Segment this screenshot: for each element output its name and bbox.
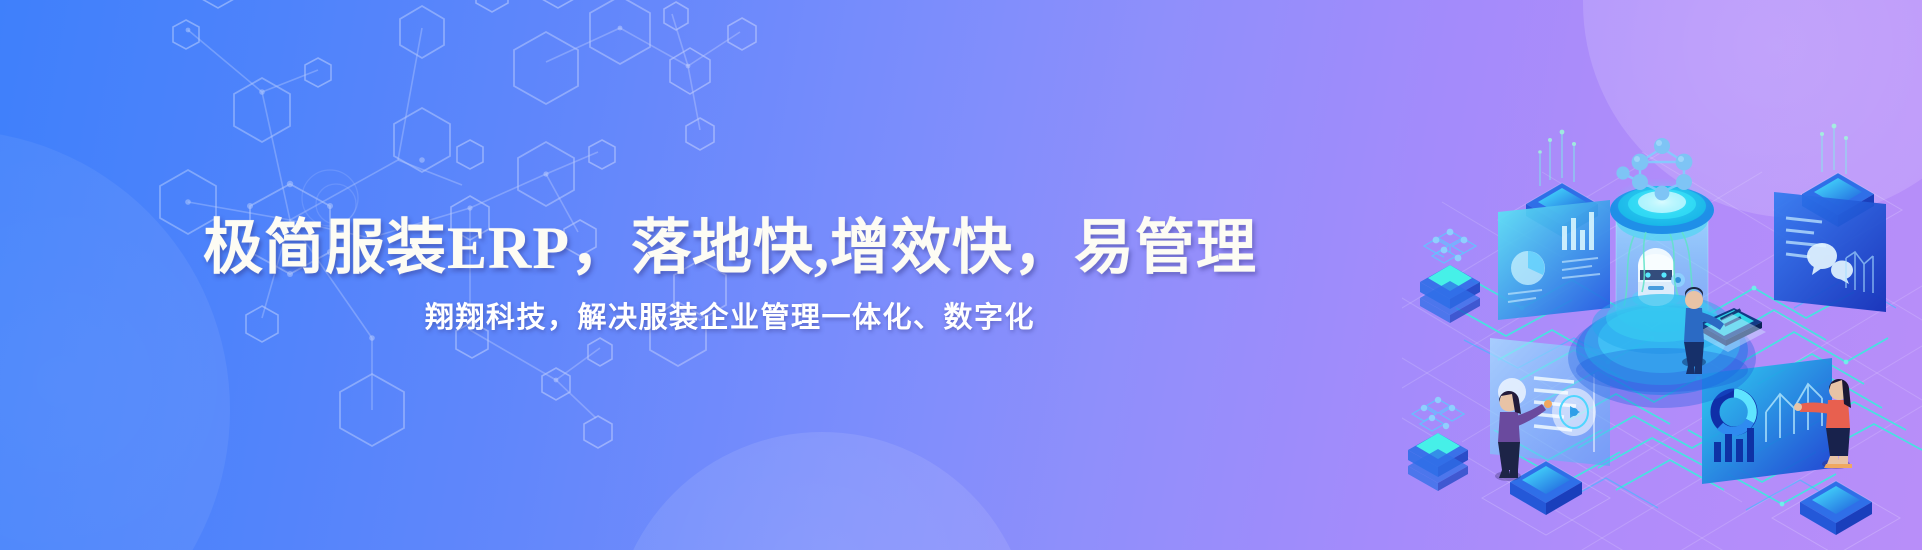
banner-copy: 极简服装ERP，落地快,增效快，易管理 翔翔科技，解决服装企业管理一体化、数字化 — [0, 0, 1460, 550]
server-stack-lower-left-icon — [1408, 397, 1468, 491]
isometric-ai-illustration — [1402, 112, 1922, 550]
signal-spark-left-icon — [1540, 134, 1574, 186]
panel-pie-bar-chart — [1498, 200, 1610, 320]
server-stack-upper-left-icon — [1420, 229, 1480, 323]
hero-banner: 极简服装ERP，落地快,增效快，易管理 翔翔科技，解决服装企业管理一体化、数字化 — [0, 0, 1922, 550]
signal-spark-right-icon — [1822, 128, 1846, 174]
banner-title: 极简服装ERP，落地快,增效快，易管理 — [203, 218, 1257, 278]
chip-block-bottom-right-icon — [1772, 481, 1900, 550]
player-dial-icon — [1552, 388, 1596, 436]
banner-subtitle: 翔翔科技，解决服装企业管理一体化、数字化 — [425, 304, 1035, 333]
panel-chat-chart — [1774, 192, 1886, 312]
